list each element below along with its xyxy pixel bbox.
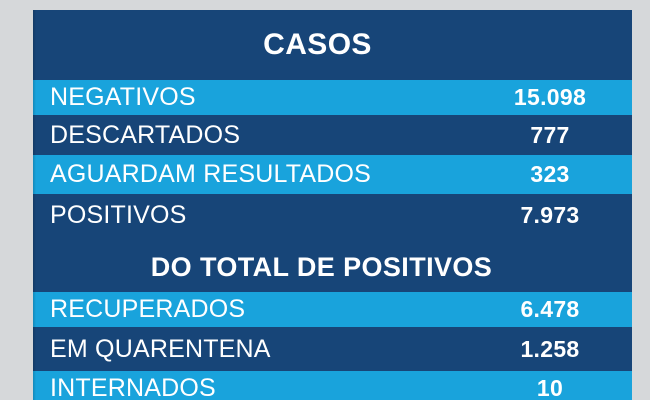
stat-label-negativos: NEGATIVOS	[50, 83, 196, 112]
stat-row-descartados: DESCARTADOS 777	[33, 115, 632, 155]
section-title-casos: CASOS	[33, 10, 632, 80]
stat-value-positivos: 7.973	[483, 202, 617, 229]
stat-value-recuperados: 6.478	[483, 296, 617, 323]
stat-label-em-quarentena: EM QUARENTENA	[50, 335, 271, 364]
stat-label-aguardam-resultados: AGUARDAM RESULTADOS	[50, 160, 371, 189]
stat-value-internados: 10	[483, 375, 617, 400]
stat-label-internados: INTERNADOS	[50, 374, 216, 400]
stat-label-descartados: DESCARTADOS	[50, 121, 240, 150]
stat-row-internados: INTERNADOS 10	[33, 371, 632, 400]
stat-value-negativos: 15.098	[483, 84, 617, 111]
stat-row-aguardam-resultados: AGUARDAM RESULTADOS 323	[33, 155, 632, 194]
covid-stats-card: CASOS NEGATIVOS 15.098 DESCARTADOS 777 A…	[33, 10, 632, 400]
stat-row-recuperados: RECUPERADOS 6.478	[33, 292, 632, 327]
stat-label-positivos: POSITIVOS	[50, 201, 187, 230]
stat-row-em-quarentena: EM QUARENTENA 1.258	[33, 327, 632, 371]
stat-row-negativos: NEGATIVOS 15.098	[33, 80, 632, 115]
stat-row-positivos: POSITIVOS 7.973	[33, 194, 632, 236]
stat-value-descartados: 777	[483, 122, 617, 149]
stat-label-recuperados: RECUPERADOS	[50, 295, 245, 324]
section-title-do-total-de-positivos: DO TOTAL DE POSITIVOS	[33, 236, 632, 292]
stat-value-em-quarentena: 1.258	[483, 336, 617, 363]
stat-value-aguardam-resultados: 323	[483, 161, 617, 188]
